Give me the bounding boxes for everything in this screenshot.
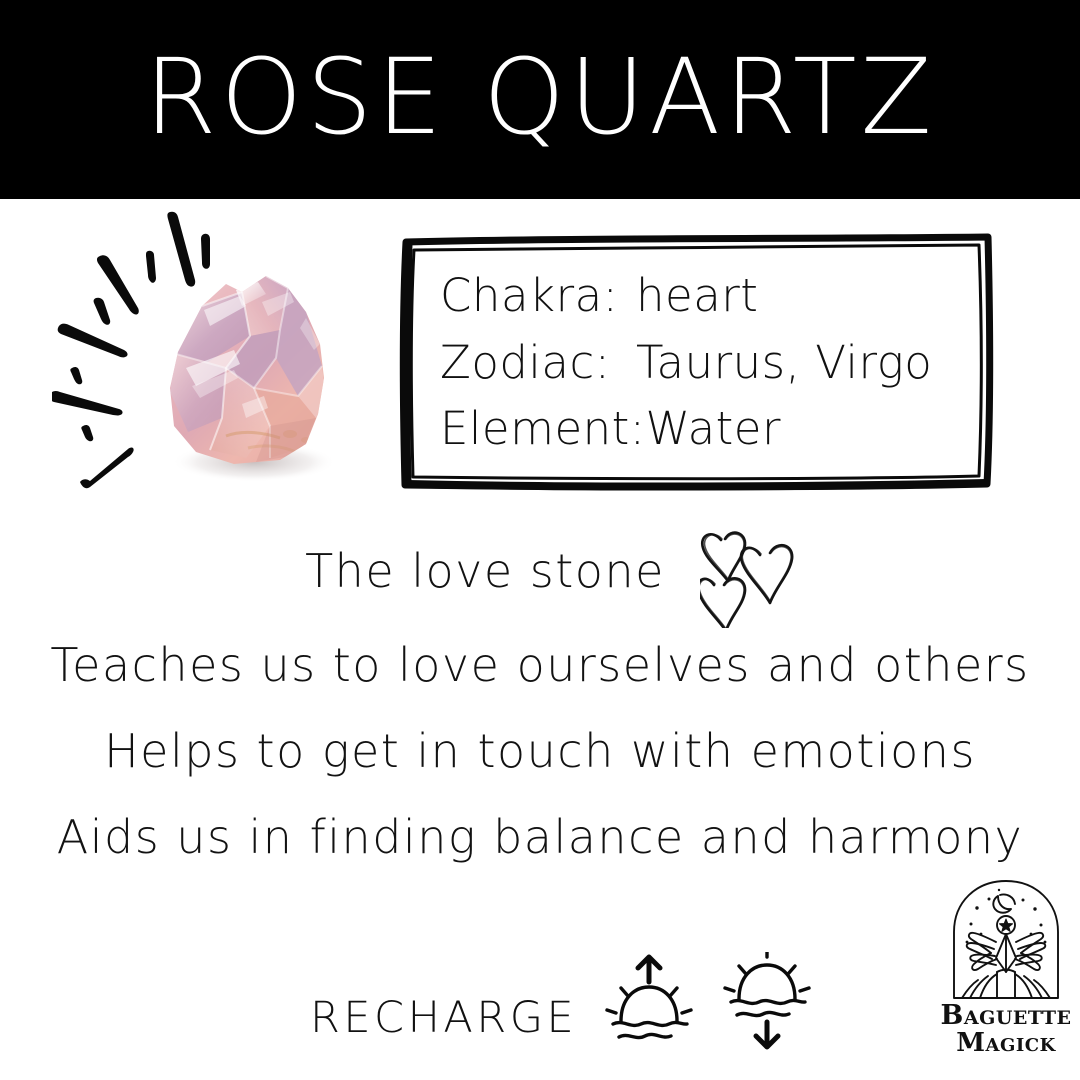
attribute-label-element: Element:	[440, 396, 645, 463]
attribute-value-zodiac: Taurus, Virgo	[636, 330, 932, 397]
description-line-3: Helps to get in touch with emotions	[0, 728, 1080, 814]
recharge-section: RECHARGE	[310, 952, 813, 1052]
attribute-label-zodiac: Zodiac:	[440, 330, 636, 397]
attribute-row-zodiac: Zodiac: Taurus, Virgo	[440, 330, 980, 397]
attributes-list: Chakra: heart Zodiac: Taurus, Virgo Elem…	[440, 258, 980, 468]
brand-name: Baguette Magick	[936, 1002, 1076, 1056]
brand-logo: Baguette Magick	[936, 876, 1076, 1066]
attributes-box: Chakra: heart Zodiac: Taurus, Virgo Elem…	[396, 228, 996, 493]
brand-name-line-1: Baguette	[936, 1002, 1076, 1030]
page-title: ROSE QUARTZ	[0, 0, 1080, 199]
sunrise-icon	[603, 952, 695, 1052]
logo-emblem-icon	[947, 876, 1065, 1000]
attribute-row-chakra: Chakra: heart	[440, 263, 980, 330]
description-line-2: Teaches us to love ourselves and others	[0, 642, 1080, 728]
brand-name-line-2: Magick	[936, 1030, 1076, 1057]
heart-doodles	[700, 523, 815, 628]
crystal-info-card: ROSE QUARTZ	[0, 0, 1080, 1080]
description-line-1-wrap: The love stone	[0, 548, 1080, 642]
description-line-1: The love stone	[305, 544, 665, 598]
recharge-label: RECHARGE	[310, 997, 577, 1040]
crystal-illustration	[52, 208, 382, 498]
attribute-row-element: Element: Water	[440, 396, 980, 463]
attribute-label-chakra: Chakra:	[440, 263, 636, 330]
description-line-4: Aids us in finding balance and harmony	[0, 814, 1080, 860]
attribute-value-chakra: heart	[636, 263, 758, 330]
attribute-value-element: Water	[645, 396, 781, 463]
description-block: The love stone Teaches us to love oursel…	[0, 548, 1080, 860]
rose-quartz-specimen	[130, 266, 355, 481]
sunset-icon	[721, 952, 813, 1052]
